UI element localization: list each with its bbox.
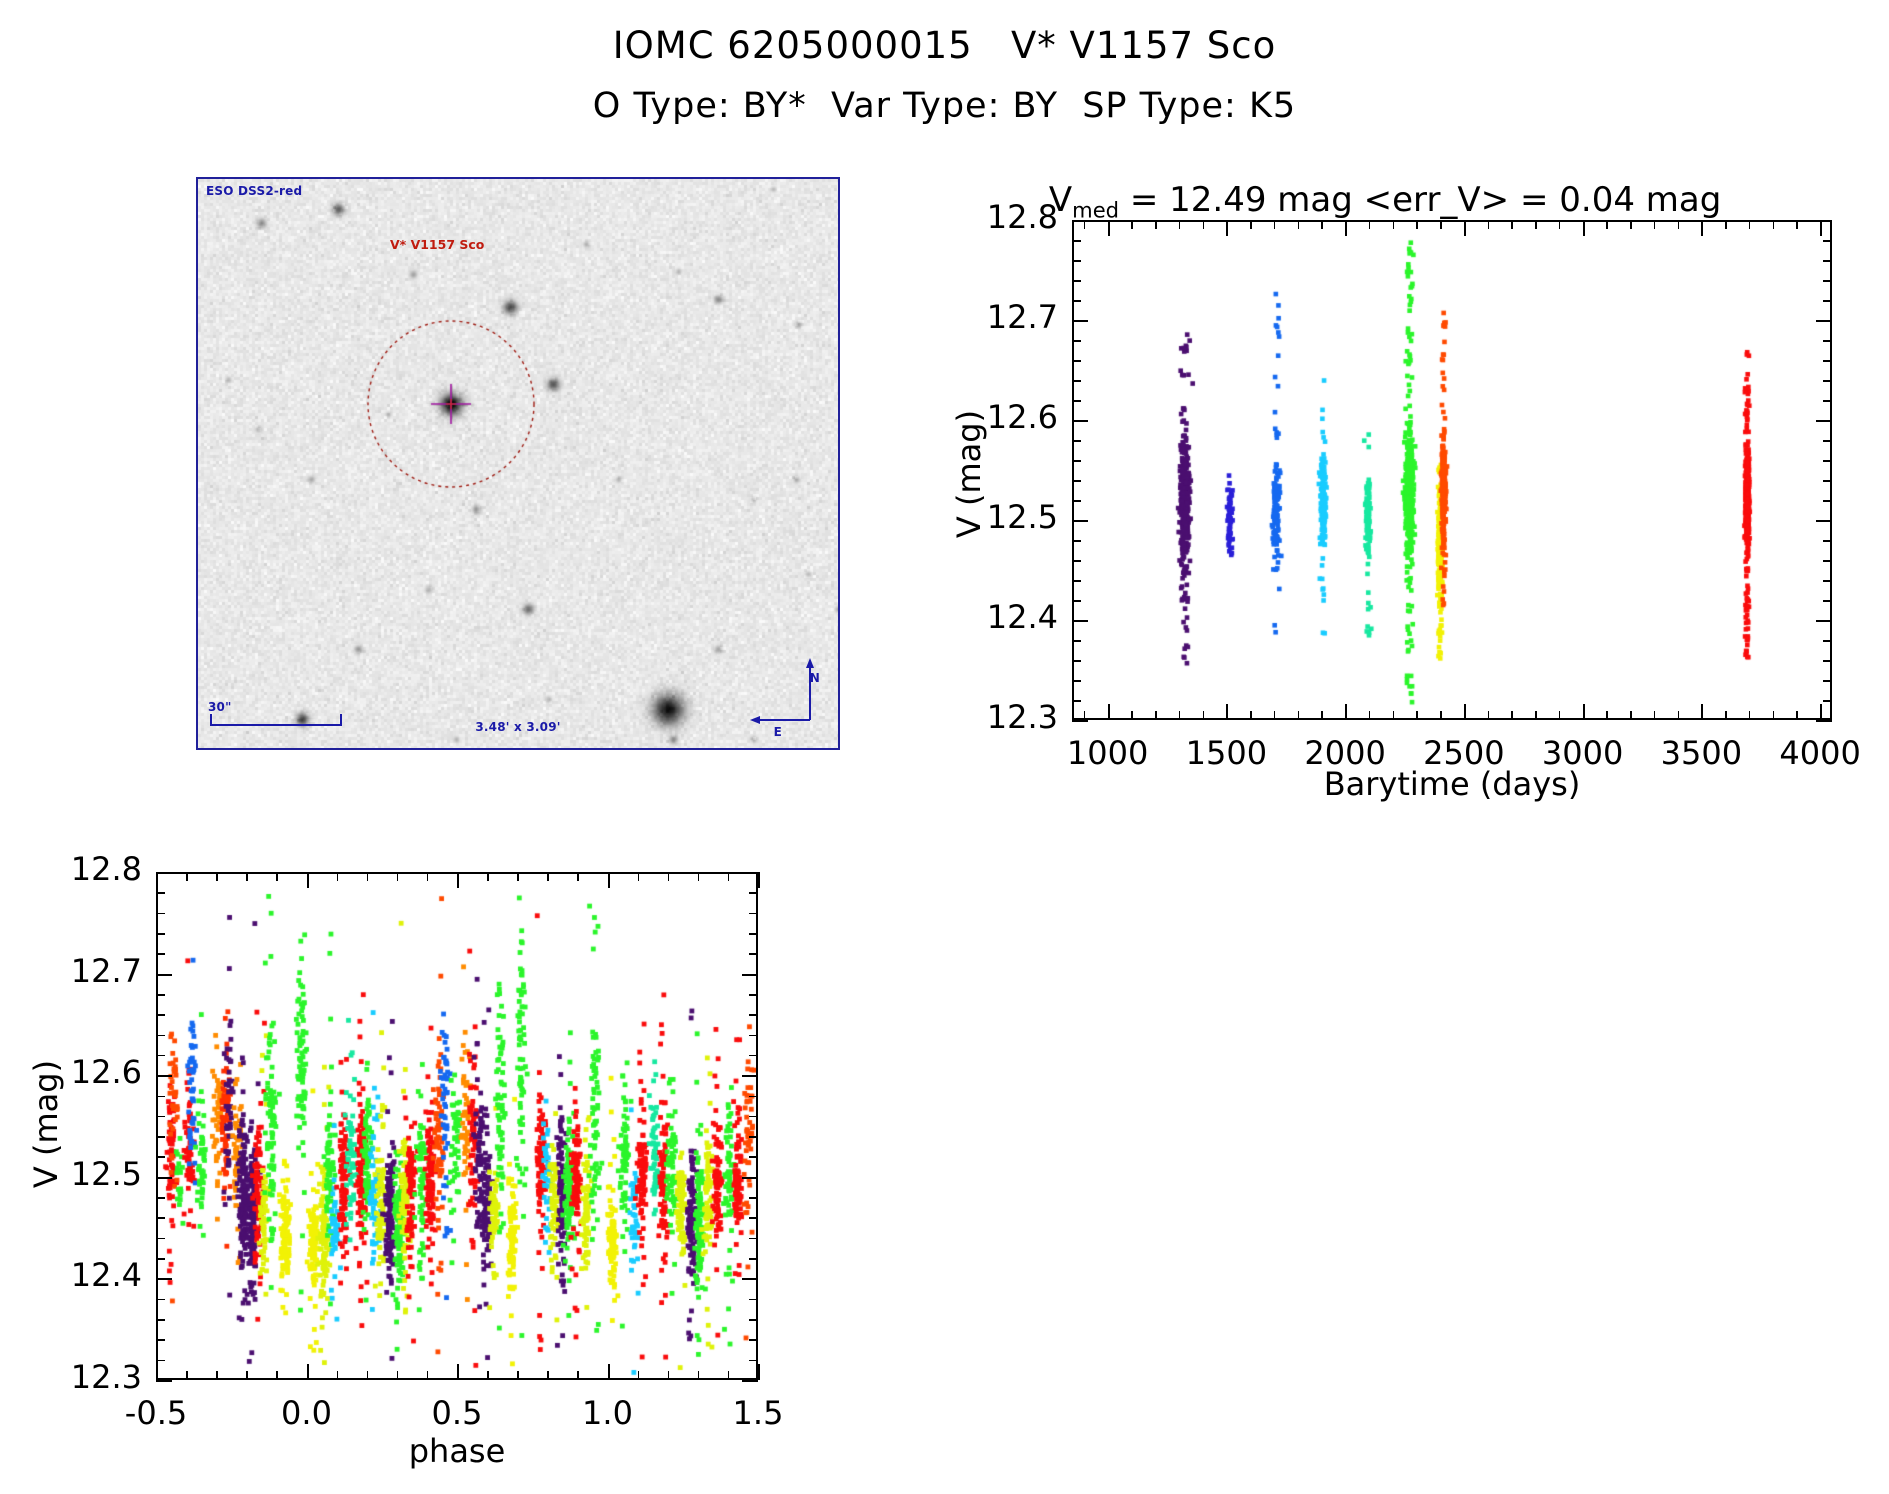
axis-tick bbox=[1369, 220, 1371, 229]
axis-tick bbox=[1823, 380, 1832, 382]
axis-tick bbox=[397, 872, 399, 881]
axis-tick bbox=[1250, 220, 1252, 229]
axis-tick bbox=[216, 872, 218, 881]
axis-tick bbox=[1155, 711, 1157, 720]
axis-tick bbox=[1511, 220, 1513, 229]
axis-tick bbox=[1131, 711, 1133, 720]
axis-tick bbox=[1823, 520, 1832, 522]
axis-tick bbox=[1393, 220, 1395, 229]
axis-tick-label: 0.0 bbox=[281, 1394, 332, 1432]
axis-tick bbox=[1084, 711, 1086, 720]
axis-tick bbox=[577, 1371, 579, 1380]
axis-tick bbox=[1823, 320, 1832, 322]
axis-tick bbox=[749, 913, 758, 915]
axis-tick bbox=[427, 1371, 429, 1380]
axis-tick bbox=[1072, 560, 1081, 562]
axis-tick bbox=[156, 1217, 165, 1219]
axis-tick bbox=[156, 1035, 165, 1037]
figure-canvas: IOMC 6205000015 V* V1157 Sco O Type: BY*… bbox=[0, 0, 1889, 1494]
axis-tick-label: 1.5 bbox=[733, 1394, 784, 1432]
axis-tick bbox=[749, 1380, 758, 1382]
axis-tick bbox=[156, 1238, 165, 1240]
axis-tick bbox=[1203, 711, 1205, 720]
axis-tick bbox=[186, 1371, 188, 1380]
axis-tick bbox=[1823, 660, 1832, 662]
axis-tick bbox=[638, 1371, 640, 1380]
phase-curve-points bbox=[158, 874, 756, 1378]
axis-tick bbox=[517, 872, 519, 881]
axis-tick bbox=[1072, 500, 1081, 502]
axis-tick bbox=[749, 1360, 758, 1362]
page-title: IOMC 6205000015 V* V1157 Sco bbox=[0, 24, 1889, 67]
axis-tick bbox=[1072, 620, 1081, 622]
axis-tick bbox=[1583, 220, 1585, 229]
axis-tick bbox=[156, 1278, 165, 1280]
axis-tick bbox=[1823, 420, 1832, 422]
axis-tick bbox=[457, 1371, 459, 1380]
axis-tick bbox=[1630, 711, 1632, 720]
axis-tick bbox=[1072, 720, 1081, 722]
axis-tick bbox=[1226, 711, 1228, 720]
axis-tick bbox=[1820, 711, 1822, 720]
axis-tick bbox=[1393, 711, 1395, 720]
axis-tick bbox=[1823, 360, 1832, 362]
axis-tick bbox=[728, 1371, 730, 1380]
axis-tick bbox=[156, 994, 165, 996]
axis-tick bbox=[1108, 220, 1110, 229]
axis-tick bbox=[758, 1364, 760, 1380]
axis-tick bbox=[668, 1371, 670, 1380]
phase-curve-yaxis-label: V (mag) bbox=[27, 1060, 65, 1188]
axis-tick bbox=[1440, 220, 1442, 229]
axis-tick bbox=[427, 872, 429, 881]
axis-tick bbox=[1823, 260, 1832, 262]
axis-tick bbox=[156, 1299, 165, 1301]
axis-tick bbox=[246, 1371, 248, 1380]
axis-tick bbox=[749, 1238, 758, 1240]
axis-tick bbox=[1155, 220, 1157, 229]
axis-tick bbox=[1725, 711, 1727, 720]
axis-tick bbox=[1072, 600, 1081, 602]
axis-tick bbox=[1298, 711, 1300, 720]
axis-tick bbox=[1701, 220, 1703, 229]
axis-tick bbox=[307, 872, 309, 881]
axis-tick bbox=[749, 1339, 758, 1341]
axis-tick bbox=[246, 872, 248, 881]
axis-tick bbox=[1678, 711, 1680, 720]
axis-tick bbox=[1535, 711, 1537, 720]
axis-tick-label: 0.5 bbox=[432, 1394, 483, 1432]
axis-tick bbox=[1773, 711, 1775, 720]
axis-tick bbox=[1416, 711, 1418, 720]
axis-tick bbox=[1823, 620, 1832, 622]
axis-tick bbox=[608, 1371, 610, 1380]
axis-tick bbox=[367, 872, 369, 881]
axis-tick bbox=[1072, 520, 1081, 522]
axis-tick-label: 12.5 bbox=[987, 498, 1058, 536]
axis-tick bbox=[1823, 560, 1832, 562]
axis-tick bbox=[156, 1075, 165, 1077]
axis-tick bbox=[1796, 220, 1798, 229]
target-star-label: V* V1157 Sco bbox=[390, 237, 484, 252]
axis-tick-label: 12.8 bbox=[987, 198, 1058, 236]
axis-tick bbox=[487, 872, 489, 881]
axis-tick-label: 1.0 bbox=[582, 1394, 633, 1432]
axis-tick bbox=[749, 1136, 758, 1138]
axis-tick bbox=[668, 872, 670, 881]
axis-tick bbox=[1072, 260, 1081, 262]
axis-tick bbox=[1654, 220, 1656, 229]
axis-tick bbox=[156, 1177, 165, 1179]
axis-tick bbox=[1298, 220, 1300, 229]
axis-tick bbox=[1749, 711, 1751, 720]
axis-tick bbox=[749, 1116, 758, 1118]
axis-tick bbox=[1823, 640, 1832, 642]
axis-tick bbox=[156, 913, 165, 915]
axis-tick bbox=[1823, 720, 1832, 722]
axis-tick-label: 12.7 bbox=[987, 298, 1058, 336]
axis-tick bbox=[547, 1371, 549, 1380]
axis-tick bbox=[749, 1096, 758, 1098]
axis-tick bbox=[1511, 711, 1513, 720]
axis-tick bbox=[749, 1197, 758, 1199]
axis-tick bbox=[156, 1339, 165, 1341]
axis-tick bbox=[1226, 220, 1228, 229]
axis-tick bbox=[216, 1371, 218, 1380]
axis-tick bbox=[1823, 280, 1832, 282]
axis-tick-label: 12.3 bbox=[987, 698, 1058, 736]
axis-tick bbox=[1725, 220, 1727, 229]
axis-tick bbox=[1630, 220, 1632, 229]
axis-tick bbox=[1072, 580, 1081, 582]
axis-tick bbox=[1321, 711, 1323, 720]
axis-tick bbox=[1072, 420, 1081, 422]
axis-tick bbox=[749, 872, 758, 874]
axis-tick-label: 12.6 bbox=[987, 398, 1058, 436]
axis-tick bbox=[1072, 380, 1081, 382]
axis-tick bbox=[1773, 220, 1775, 229]
axis-tick bbox=[156, 953, 165, 955]
axis-tick bbox=[487, 1371, 489, 1380]
axis-tick bbox=[1823, 300, 1832, 302]
axis-tick bbox=[1749, 220, 1751, 229]
axis-tick bbox=[1369, 711, 1371, 720]
axis-tick bbox=[1823, 340, 1832, 342]
axis-tick bbox=[749, 1217, 758, 1219]
axis-tick bbox=[749, 1177, 758, 1179]
axis-tick bbox=[1321, 220, 1323, 229]
axis-tick bbox=[156, 1197, 165, 1199]
scale-bar-label: 30" bbox=[208, 700, 232, 714]
axis-tick bbox=[1345, 711, 1347, 720]
axis-tick bbox=[1606, 220, 1608, 229]
axis-tick bbox=[1464, 711, 1466, 720]
axis-tick bbox=[1823, 540, 1832, 542]
axis-tick bbox=[608, 872, 610, 881]
axis-tick bbox=[457, 872, 459, 881]
axis-tick bbox=[1072, 240, 1081, 242]
axis-tick bbox=[1823, 680, 1832, 682]
axis-tick bbox=[156, 1136, 165, 1138]
axis-tick bbox=[698, 1371, 700, 1380]
axis-tick bbox=[186, 872, 188, 881]
axis-tick bbox=[156, 1360, 165, 1362]
axis-tick bbox=[1823, 600, 1832, 602]
axis-tick bbox=[1072, 320, 1081, 322]
axis-tick bbox=[1072, 220, 1081, 222]
axis-tick bbox=[1559, 220, 1561, 229]
axis-tick bbox=[156, 1156, 165, 1158]
axis-tick bbox=[1823, 480, 1832, 482]
axis-tick bbox=[1488, 220, 1490, 229]
axis-tick bbox=[638, 872, 640, 881]
axis-tick bbox=[1072, 300, 1081, 302]
light-curve-xaxis-label: Barytime (days) bbox=[1072, 765, 1832, 803]
axis-tick bbox=[517, 1371, 519, 1380]
axis-tick bbox=[1250, 711, 1252, 720]
axis-tick bbox=[749, 892, 758, 894]
axis-tick bbox=[1823, 500, 1832, 502]
axis-tick bbox=[1203, 220, 1205, 229]
axis-tick bbox=[276, 1371, 278, 1380]
axis-tick bbox=[728, 872, 730, 881]
axis-tick bbox=[1072, 660, 1081, 662]
scale-bar bbox=[210, 714, 342, 726]
axis-tick bbox=[749, 974, 758, 976]
axis-tick bbox=[547, 872, 549, 881]
axis-tick bbox=[1535, 220, 1537, 229]
axis-tick-label: 12.6 bbox=[71, 1053, 142, 1091]
axis-tick bbox=[337, 1371, 339, 1380]
axis-tick bbox=[1072, 480, 1081, 482]
axis-tick bbox=[156, 872, 165, 874]
axis-tick bbox=[749, 1156, 758, 1158]
axis-tick-label: 12.8 bbox=[71, 850, 142, 888]
sky-finder-chart[interactable]: ESO DSS2-red V* V1157 Sco 30" 3.48' x 3.… bbox=[196, 177, 840, 750]
axis-tick bbox=[1072, 440, 1081, 442]
axis-tick bbox=[1823, 580, 1832, 582]
axis-tick bbox=[1072, 340, 1081, 342]
axis-tick bbox=[1823, 240, 1832, 242]
axis-tick bbox=[1440, 711, 1442, 720]
axis-tick bbox=[1131, 220, 1133, 229]
axis-tick bbox=[1416, 220, 1418, 229]
light-curve-yaxis-label: V (mag) bbox=[950, 410, 988, 538]
axis-tick bbox=[1823, 460, 1832, 462]
axis-tick bbox=[1701, 711, 1703, 720]
axis-tick bbox=[749, 994, 758, 996]
axis-tick bbox=[1823, 400, 1832, 402]
axis-tick bbox=[1823, 440, 1832, 442]
axis-tick bbox=[1464, 220, 1466, 229]
axis-tick bbox=[749, 1075, 758, 1077]
axis-tick-label: 12.3 bbox=[71, 1358, 142, 1396]
light-curve-plot[interactable] bbox=[1072, 220, 1832, 720]
axis-tick bbox=[1108, 711, 1110, 720]
axis-tick bbox=[1072, 640, 1081, 642]
compass-icon bbox=[732, 642, 832, 742]
axis-tick-label: 12.4 bbox=[987, 598, 1058, 636]
axis-tick bbox=[1678, 220, 1680, 229]
axis-tick bbox=[1606, 711, 1608, 720]
axis-tick bbox=[1179, 220, 1181, 229]
phase-curve-plot[interactable] bbox=[156, 872, 758, 1380]
axis-tick bbox=[749, 1258, 758, 1260]
axis-tick bbox=[1072, 280, 1081, 282]
axis-tick bbox=[1823, 220, 1832, 222]
axis-tick bbox=[749, 1014, 758, 1016]
axis-tick-label: 12.7 bbox=[71, 952, 142, 990]
axis-tick bbox=[337, 872, 339, 881]
axis-tick bbox=[156, 1380, 165, 1382]
field-size-label: 3.48' x 3.09' bbox=[475, 720, 560, 734]
axis-tick bbox=[156, 1319, 165, 1321]
axis-tick bbox=[698, 872, 700, 881]
axis-tick bbox=[1488, 711, 1490, 720]
axis-tick bbox=[156, 933, 165, 935]
axis-tick bbox=[749, 1055, 758, 1057]
axis-tick bbox=[156, 974, 165, 976]
axis-tick bbox=[749, 1278, 758, 1280]
axis-tick bbox=[1583, 711, 1585, 720]
axis-tick bbox=[276, 872, 278, 881]
axis-tick bbox=[749, 1035, 758, 1037]
axis-tick bbox=[1796, 711, 1798, 720]
axis-tick-label: 12.5 bbox=[71, 1155, 142, 1193]
axis-tick bbox=[749, 933, 758, 935]
axis-tick bbox=[1274, 711, 1276, 720]
axis-tick bbox=[156, 1096, 165, 1098]
axis-tick bbox=[1823, 700, 1832, 702]
axis-tick bbox=[1072, 540, 1081, 542]
axis-tick bbox=[1072, 400, 1081, 402]
axis-tick bbox=[758, 872, 760, 888]
object-type-line: O Type: BY* Var Type: BY SP Type: K5 bbox=[0, 86, 1889, 126]
axis-tick bbox=[156, 1371, 158, 1380]
axis-tick-label: -0.5 bbox=[125, 1394, 187, 1432]
axis-tick bbox=[749, 1319, 758, 1321]
axis-tick bbox=[749, 1299, 758, 1301]
axis-tick bbox=[577, 872, 579, 881]
survey-label: ESO DSS2-red bbox=[206, 184, 302, 198]
axis-tick bbox=[156, 1116, 165, 1118]
axis-tick bbox=[1179, 711, 1181, 720]
axis-tick bbox=[1274, 220, 1276, 229]
axis-tick bbox=[156, 1258, 165, 1260]
axis-tick bbox=[1345, 220, 1347, 229]
vmed-values: = 12.49 mag <err_V> = 0.04 mag bbox=[1119, 180, 1721, 220]
axis-tick bbox=[367, 1371, 369, 1380]
axis-tick bbox=[1559, 711, 1561, 720]
vmed-subscript: med bbox=[1072, 198, 1119, 223]
axis-tick bbox=[397, 1371, 399, 1380]
axis-tick bbox=[156, 1014, 165, 1016]
axis-tick bbox=[1072, 460, 1081, 462]
axis-tick bbox=[1654, 711, 1656, 720]
phase-curve-xaxis-label: phase bbox=[156, 1432, 758, 1470]
axis-tick bbox=[1072, 680, 1081, 682]
axis-tick bbox=[307, 1371, 309, 1380]
axis-tick bbox=[156, 1055, 165, 1057]
axis-tick-label: 12.4 bbox=[71, 1256, 142, 1294]
axis-tick bbox=[1072, 360, 1081, 362]
axis-tick bbox=[156, 892, 165, 894]
axis-tick bbox=[749, 953, 758, 955]
axis-tick bbox=[1072, 700, 1081, 702]
light-curve-points bbox=[1074, 222, 1830, 718]
